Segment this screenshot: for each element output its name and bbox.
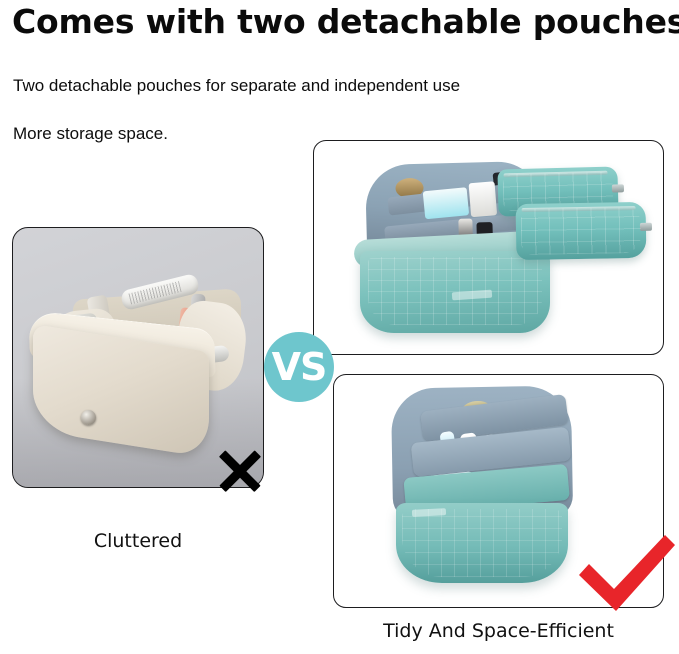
detachable-pouches-photo [313,140,664,355]
subtitle-line-2: More storage space. [13,124,168,144]
detachable-pouch-2 [516,202,647,260]
cream-bag-illustration [29,286,245,446]
tube-item [423,187,469,219]
bag-open-compartments [391,385,573,520]
zipper [504,171,608,178]
check-mark-icon [573,531,679,617]
zipper [522,206,636,212]
vs-badge: VS [264,332,334,402]
zipper-pull [612,184,624,192]
organizer-bag-top-view [382,383,587,588]
snap-button [81,410,96,425]
tube-item [469,181,498,217]
x-mark-icon [216,447,264,495]
zipper-pull [640,223,652,231]
tidy-caption: Tidy And Space-Efficient [333,620,664,642]
cluttered-caption: Cluttered [12,530,264,552]
product-comparison-image: Comes with two detachable pouches Two de… [0,0,679,654]
subtitle-line-1: Two detachable pouches for separate and … [13,76,460,96]
vs-label: VS [272,348,327,386]
page-title: Comes with two detachable pouches [12,2,667,41]
